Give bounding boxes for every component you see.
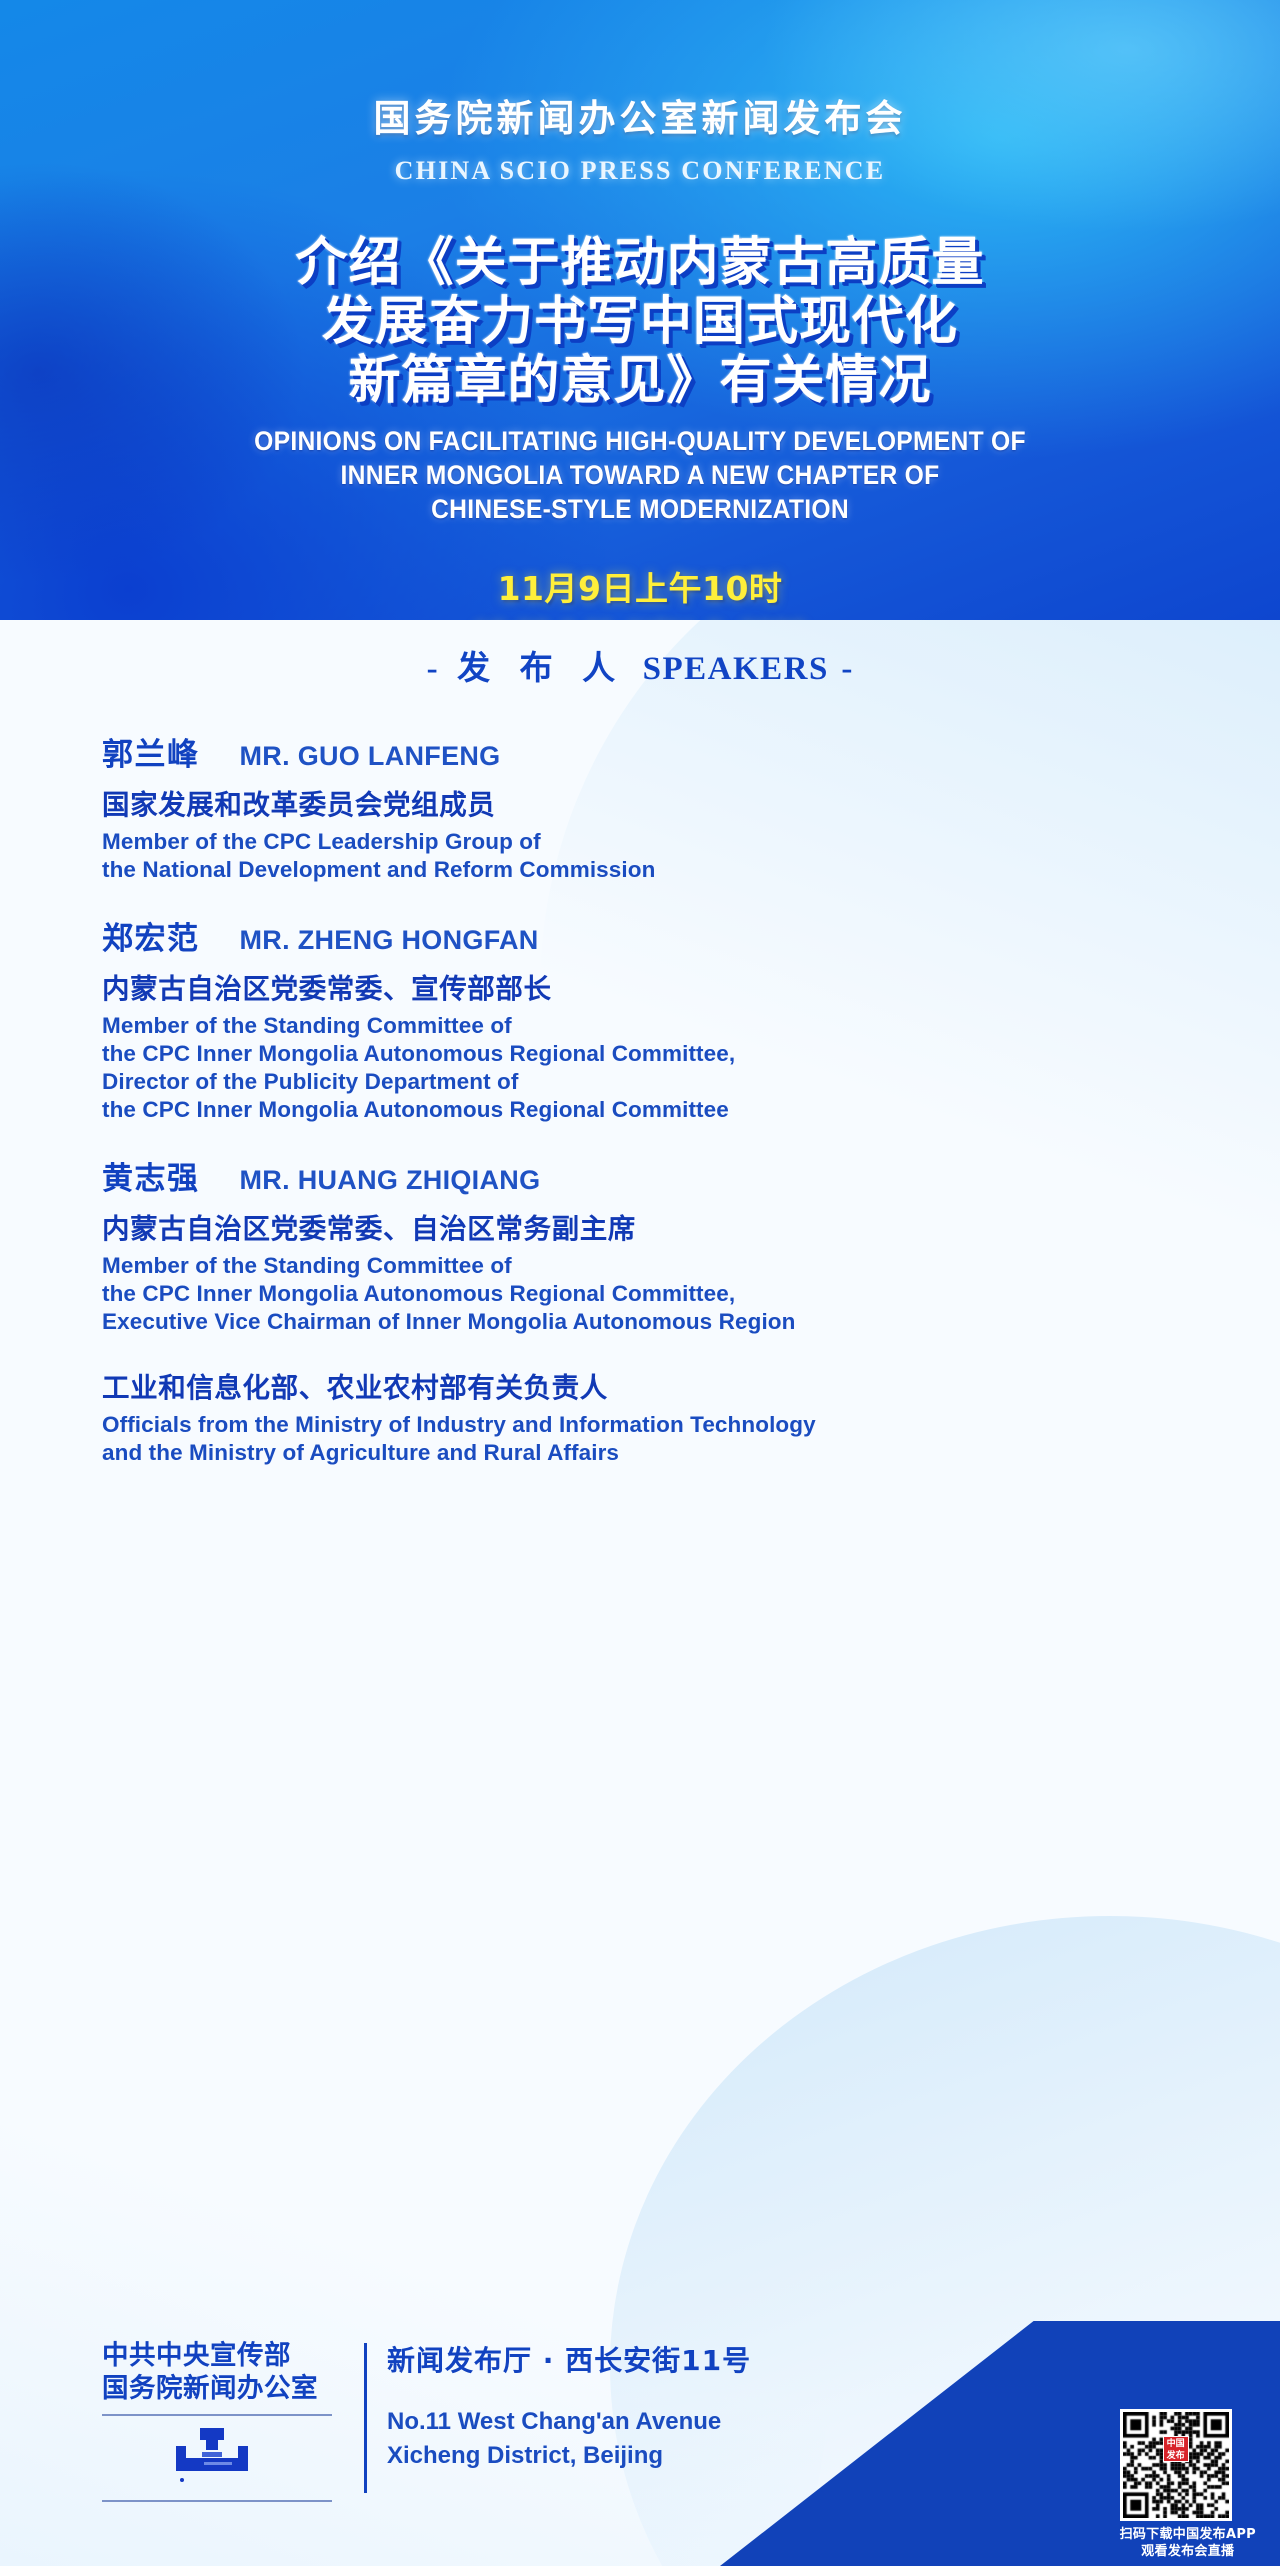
- emblem-rule-top: [102, 2414, 332, 2416]
- venue-address-en-line: Xicheng District, Beijing: [387, 2439, 751, 2473]
- conference-title-en-line-3: CHINESE-STYLE MODERNIZATION: [45, 492, 1235, 526]
- speaker-title-en: Member of the CPC Leadership Group of th…: [102, 828, 1280, 884]
- speakers-section: - 发 布 人 SPEAKERS - 郭兰峰 MR. GUO LANFENG 国…: [0, 620, 1280, 2566]
- speaker-title-en: Member of the Standing Committee of the …: [102, 1252, 1280, 1336]
- speaker-name-en: MR. HUANG ZHIQIANG: [240, 1165, 541, 1198]
- speaker-title-en-line: Member of the CPC Leadership Group of: [102, 828, 1280, 856]
- conference-title-cn-line-1: 介绍《关于推动内蒙古高质量: [0, 234, 1280, 293]
- speaker-title-en-line: the CPC Inner Mongolia Autonomous Region…: [102, 1040, 1280, 1068]
- qr-caption-line-2: 观看发布会直播: [1120, 2543, 1256, 2560]
- venue-address-en-line: No.11 West Chang'an Avenue: [387, 2405, 751, 2439]
- speaker-name-cn: 郭兰峰: [102, 729, 200, 774]
- conference-title-en-line-1: OPINIONS ON FACILITATING HIGH-QUALITY DE…: [45, 424, 1235, 458]
- venue-address-cn: 新闻发布厅 · 西长安街11号: [387, 2339, 751, 2379]
- footer-organizer-block: 中共中央宣传部 国务院新闻办公室: [102, 2339, 344, 2502]
- speaker-name-en: MR. GUO LANFENG: [240, 741, 501, 774]
- officials-title-en: Officials from the Ministry of Industry …: [102, 1411, 1280, 1467]
- china-scio-app-badge-icon: 中国 发布: [1163, 2436, 1189, 2462]
- emblem-rule-bottom: [102, 2500, 332, 2502]
- speaker-list: 郭兰峰 MR. GUO LANFENG 国家发展和改革委员会党组成员 Membe…: [0, 689, 1280, 1467]
- officials-title-cn: 工业和信息化部、农业农村部有关负责人: [102, 1365, 1280, 1405]
- venue-address-en: No.11 West Chang'an Avenue Xicheng Distr…: [387, 2405, 751, 2473]
- speaker-name-cn: 郑宏范: [102, 913, 200, 958]
- speaker-title-en-line: the National Development and Reform Comm…: [102, 856, 1280, 884]
- speakers-heading-cn: 发 布 人: [451, 648, 630, 687]
- speaker-entry: 郭兰峰 MR. GUO LANFENG 国家发展和改革委员会党组成员 Membe…: [102, 729, 1280, 884]
- speaker-title-en-line: Executive Vice Chairman of Inner Mongoli…: [102, 1308, 1280, 1336]
- footer-divider: [364, 2343, 367, 2493]
- national-emblem-rostrum-icon: [102, 2414, 344, 2502]
- officials-title-en-line: Officials from the Ministry of Industry …: [102, 1411, 1280, 1439]
- rostrum-glyph: [162, 2428, 262, 2482]
- speaker-entry: 郑宏范 MR. ZHENG HONGFAN 内蒙古自治区党委常委、宣传部部长 M…: [102, 913, 1280, 1124]
- speakers-heading: - 发 布 人 SPEAKERS -: [0, 641, 1280, 689]
- conference-title-cn: 介绍《关于推动内蒙古高质量 发展奋力书写中国式现代化 新篇章的意见》有关情况: [0, 234, 1280, 411]
- speaker-title-cn: 内蒙古自治区党委常委、宣传部部长: [102, 966, 1280, 1006]
- conference-title-en-line-2: INNER MONGOLIA TOWARD A NEW CHAPTER OF: [45, 458, 1235, 492]
- speaker-title-en: Member of the Standing Committee of the …: [102, 1012, 1280, 1124]
- qr-code-block[interactable]: 中国 发布 扫码下载中国发布APP 观看发布会直播: [1120, 2409, 1256, 2560]
- conference-datetime-en: 10:00 A.M. NOV. 9, 2023: [0, 618, 1280, 620]
- conference-title-cn-line-2: 发展奋力书写中国式现代化: [0, 293, 1280, 352]
- speakers-heading-dash-left: -: [427, 651, 439, 687]
- footer-org-line-1: 中共中央宣传部: [102, 2339, 344, 2372]
- speaker-title-cn: 内蒙古自治区党委常委、自治区常务副主席: [102, 1206, 1280, 1246]
- speaker-title-cn: 国家发展和改革委员会党组成员: [102, 782, 1280, 822]
- speaker-title-en-line: Member of the Standing Committee of: [102, 1012, 1280, 1040]
- speaker-title-en-line: Member of the Standing Committee of: [102, 1252, 1280, 1280]
- qr-code-image[interactable]: 中国 发布: [1120, 2409, 1232, 2521]
- badge-line-1: 中国: [1164, 2438, 1188, 2450]
- speakers-heading-en: SPEAKERS: [643, 651, 829, 687]
- qr-code-canvas[interactable]: [1123, 2412, 1229, 2518]
- speaker-name-en: MR. ZHENG HONGFAN: [240, 925, 539, 958]
- footer-org-line-2: 国务院新闻办公室: [102, 2372, 344, 2405]
- footer-venue-block: 新闻发布厅 · 西长安街11号 No.11 West Chang'an Aven…: [387, 2339, 751, 2502]
- qr-caption-line-1: 扫码下载中国发布APP: [1120, 2526, 1256, 2543]
- officials-entry: 工业和信息化部、农业农村部有关负责人 Officials from the Mi…: [102, 1365, 1280, 1467]
- speaker-title-en-line: the CPC Inner Mongolia Autonomous Region…: [102, 1096, 1280, 1124]
- footer: 中共中央宣传部 国务院新闻办公室: [0, 2321, 1280, 2566]
- badge-line-2: 发布: [1164, 2450, 1188, 2462]
- scio-org-name-en: CHINA SCIO PRESS CONFERENCE: [0, 156, 1280, 186]
- conference-title-en: OPINIONS ON FACILITATING HIGH-QUALITY DE…: [45, 424, 1235, 526]
- speaker-entry: 黄志强 MR. HUANG ZHIQIANG 内蒙古自治区党委常委、自治区常务副…: [102, 1153, 1280, 1336]
- conference-title-cn-line-3: 新篇章的意见》有关情况: [0, 352, 1280, 411]
- qr-code-caption: 扫码下载中国发布APP 观看发布会直播: [1120, 2526, 1256, 2560]
- speaker-title-en-line: the CPC Inner Mongolia Autonomous Region…: [102, 1280, 1280, 1308]
- press-conference-banner: 国务院新闻办公室新闻发布会 CHINA SCIO PRESS CONFERENC…: [0, 0, 1280, 620]
- officials-title-en-line: and the Ministry of Agriculture and Rura…: [102, 1439, 1280, 1467]
- speakers-heading-dash-right: -: [841, 651, 853, 687]
- speaker-title-en-line: Director of the Publicity Department of: [102, 1068, 1280, 1096]
- conference-datetime-cn: 11月9日上午10时: [0, 562, 1280, 610]
- speaker-name-cn: 黄志强: [102, 1153, 200, 1198]
- scio-org-name-cn: 国务院新闻办公室新闻发布会: [0, 88, 1280, 142]
